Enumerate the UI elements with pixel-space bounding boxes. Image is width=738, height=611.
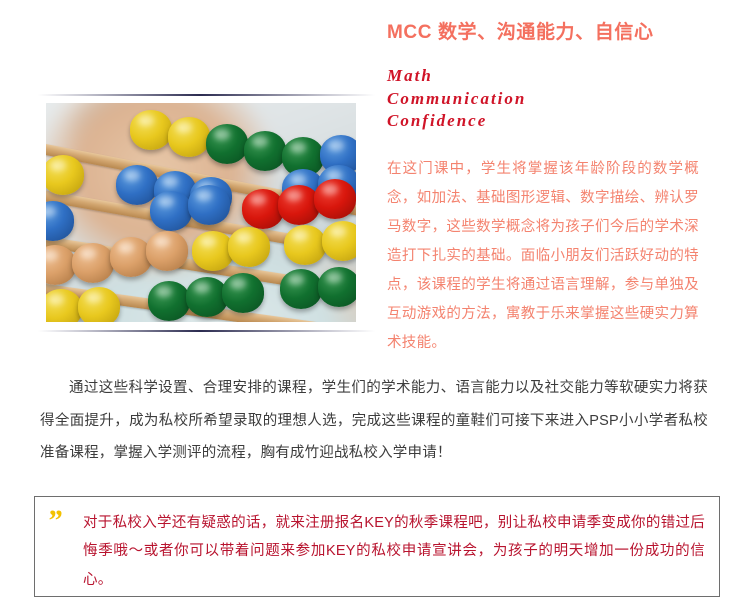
- abacus-bead: [46, 155, 84, 195]
- course-title: MCC 数学、沟通能力、自信心: [387, 0, 717, 47]
- abacus-bead: [322, 221, 356, 261]
- divider-below-image: [38, 330, 375, 332]
- abacus-bead: [314, 179, 356, 219]
- summary-paragraph: 通过这些科学设置、合理安排的课程，学生们的学术能力、语言能力以及社交能力等软硬实…: [40, 372, 708, 470]
- abacus-bead: [222, 273, 264, 313]
- course-text-column: MCC 数学、沟通能力、自信心 Math Communication Confi…: [387, 0, 717, 358]
- abacus-bead: [228, 227, 270, 267]
- abacus-bead: [146, 231, 188, 271]
- course-subtitle: Math Communication Confidence: [387, 47, 717, 134]
- abacus-bead: [148, 281, 190, 321]
- abacus-bead: [206, 124, 248, 164]
- abacus-bead: [280, 269, 322, 309]
- abacus-bead: [72, 243, 114, 283]
- abacus-bead: [318, 267, 356, 307]
- abacus-bead: [130, 110, 172, 150]
- abacus-bead: [78, 287, 120, 322]
- callout-box: ” 对于私校入学还有疑惑的话，就来注册报名KEY的秋季课程吧，别让私校申请季变成…: [34, 496, 720, 597]
- course-subtitle-line-3: Confidence: [387, 110, 717, 133]
- course-subtitle-line-2: Communication: [387, 88, 717, 111]
- abacus-bead: [188, 185, 230, 225]
- abacus-bead: [168, 117, 210, 157]
- callout-inner: ” 对于私校入学还有疑惑的话，就来注册报名KEY的秋季课程吧，别让私校申请季变成…: [35, 497, 719, 596]
- course-description: 在这门课中，学生将掌握该年龄阶段的数学概念，如加法、基础图形逻辑、数字描绘、辨认…: [387, 133, 699, 358]
- course-subtitle-line-1: Math: [387, 65, 717, 88]
- callout-text: 对于私校入学还有疑惑的话，就来注册报名KEY的秋季课程吧，别让私校申请季变成你的…: [83, 509, 705, 594]
- divider-above-image: [38, 94, 375, 96]
- abacus-photo: [46, 103, 356, 322]
- abacus-bead: [116, 165, 158, 205]
- abacus-bead: [244, 131, 286, 171]
- course-image-column: [0, 0, 376, 355]
- abacus-bead: [284, 225, 326, 265]
- quote-mark-icon: ”: [47, 506, 60, 536]
- course-intro-section: MCC 数学、沟通能力、自信心 Math Communication Confi…: [0, 0, 738, 355]
- page-root: { "course": { "title": "MCC 数学、沟通能力、自信心"…: [0, 0, 738, 611]
- abacus-bead: [150, 191, 192, 231]
